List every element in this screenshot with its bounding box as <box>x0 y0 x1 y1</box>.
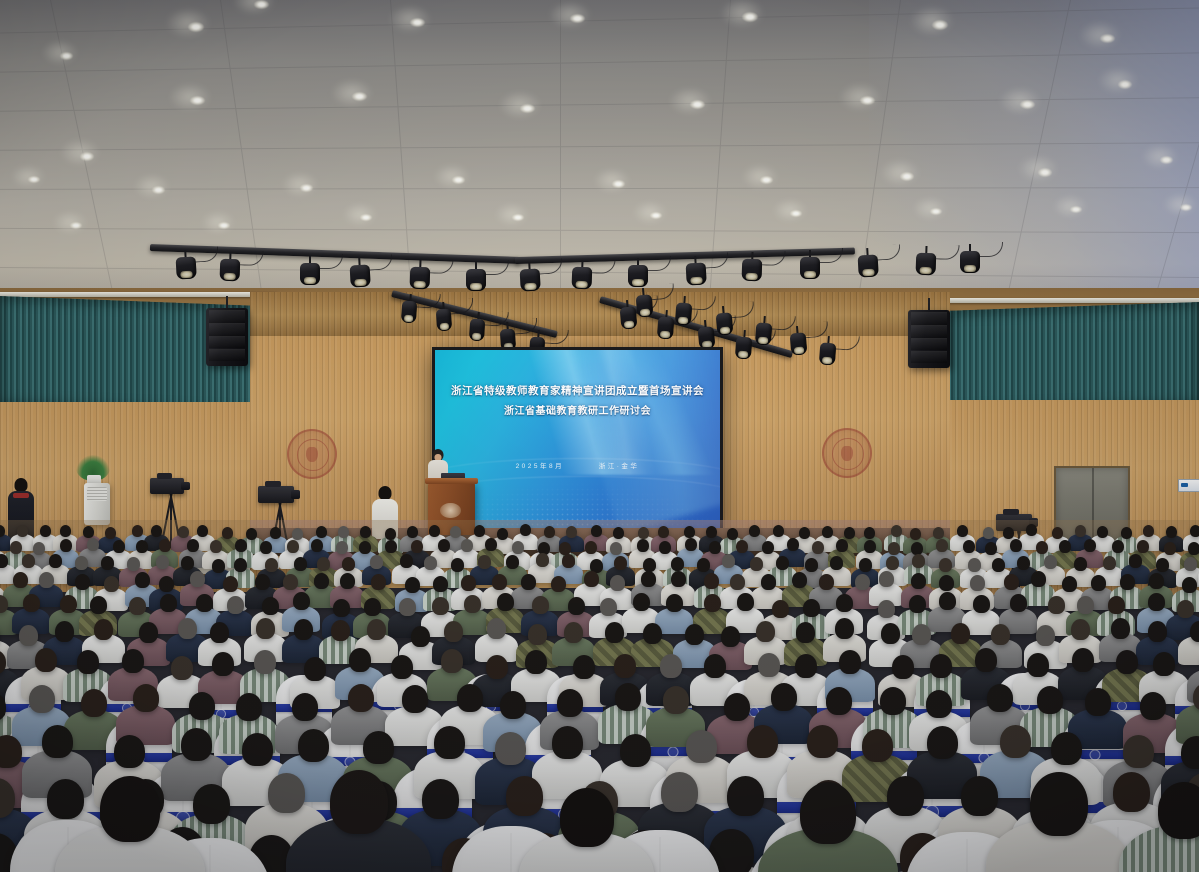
audience-head <box>671 571 686 587</box>
audience-head <box>835 618 854 639</box>
downlight <box>790 210 802 217</box>
stage-light <box>741 252 762 283</box>
audience-head <box>1111 618 1130 639</box>
audience-head <box>287 540 299 553</box>
audience-head <box>862 729 893 762</box>
chair-sash-buckle <box>1117 701 1127 711</box>
audience-head <box>1037 686 1063 714</box>
audience-head <box>983 527 994 539</box>
audience-head <box>223 576 238 592</box>
audience-head <box>911 542 923 555</box>
audience-head <box>704 594 721 612</box>
audience-head <box>812 541 824 554</box>
audience-head <box>363 731 394 764</box>
audience-head <box>47 779 84 819</box>
downlight <box>218 222 230 229</box>
downlight <box>1180 204 1192 211</box>
audience-head <box>772 600 789 618</box>
audience-head <box>399 598 416 616</box>
audience-head <box>520 524 531 536</box>
audience-head <box>485 538 497 551</box>
downlight <box>760 176 773 184</box>
downlight <box>690 100 705 109</box>
audience-head <box>1085 688 1111 716</box>
audience-head <box>422 779 459 819</box>
audience-head <box>637 539 649 552</box>
audience-head <box>330 770 388 834</box>
audience-head <box>1097 526 1108 538</box>
audience-head <box>643 558 656 572</box>
audience-head <box>559 542 571 555</box>
audience-head <box>1184 557 1197 571</box>
ac-unit-grille <box>87 487 107 501</box>
audience-head <box>1143 525 1154 537</box>
downlight <box>570 14 585 23</box>
audience-head <box>227 596 244 614</box>
audience-head <box>129 597 146 615</box>
audience-head <box>127 557 140 571</box>
audience-head <box>836 594 853 612</box>
stage-light <box>619 299 637 324</box>
audience-head <box>486 655 508 679</box>
audience-head <box>968 558 981 572</box>
audience-head <box>939 592 956 610</box>
audience-head <box>584 571 599 587</box>
line-array-speaker-left <box>206 308 248 366</box>
audience-head <box>970 575 985 591</box>
audience-head <box>268 773 305 813</box>
audience-head <box>497 528 508 540</box>
downlight <box>612 180 625 188</box>
audience-head <box>987 684 1013 712</box>
audience-head <box>807 725 838 758</box>
stage-light <box>657 309 675 334</box>
audience-head <box>197 525 208 537</box>
audience-head <box>633 593 650 611</box>
audience-head <box>262 597 279 615</box>
stage-light <box>571 260 592 291</box>
audience-head <box>909 595 926 613</box>
audience-head <box>1052 527 1063 539</box>
portable-ac-unit <box>84 483 110 525</box>
audience-head <box>641 571 656 587</box>
podium-top-surface <box>425 478 479 484</box>
audience-head <box>104 576 119 592</box>
audience-head <box>196 594 213 612</box>
audience-head <box>1017 556 1030 570</box>
chair-cover-seam <box>210 845 211 872</box>
audience-head <box>887 776 924 816</box>
audience-head <box>283 574 298 590</box>
audience-head <box>114 735 145 768</box>
audience-head <box>391 655 413 679</box>
audience-head <box>939 575 954 591</box>
line-array-speaker-right <box>908 310 950 368</box>
audience-head <box>1091 575 1106 591</box>
downlight <box>360 214 372 221</box>
stage-light <box>800 250 820 280</box>
audience-head <box>826 687 852 715</box>
audience-head <box>178 618 197 639</box>
chair-sash-buckle <box>668 746 679 757</box>
audience-head <box>620 734 651 767</box>
audience-head <box>525 650 547 674</box>
audience-head <box>371 574 386 590</box>
audience-head <box>560 788 614 847</box>
audience-head <box>42 725 73 758</box>
audience-head <box>756 621 775 642</box>
audience-head <box>591 525 602 537</box>
audience-head <box>1000 725 1031 758</box>
downlight <box>1160 156 1173 164</box>
chair-sash-buckle <box>1090 749 1101 760</box>
stage-light <box>435 302 452 326</box>
audience-head <box>441 649 463 673</box>
audience-head <box>796 622 815 643</box>
audience-head <box>60 595 77 613</box>
audience-head <box>933 527 944 539</box>
audience-head <box>721 626 740 647</box>
audience-head <box>973 595 990 613</box>
audience-head <box>451 558 464 572</box>
audience-head <box>60 539 72 552</box>
audience-area <box>0 520 1199 872</box>
downlight <box>1118 80 1132 89</box>
audience-head <box>836 539 848 552</box>
audience-head <box>0 554 8 568</box>
audience-head <box>573 655 595 679</box>
audience-head <box>1148 621 1167 642</box>
audience-head <box>407 526 418 538</box>
audience-head <box>13 572 28 588</box>
audience-head <box>532 596 549 614</box>
audience-head <box>724 693 750 721</box>
audience-head <box>348 684 374 712</box>
audience-head <box>270 527 281 539</box>
audience-head <box>1103 556 1116 570</box>
audience-head <box>171 656 193 680</box>
door-sign-icon <box>1181 483 1188 487</box>
audience-head <box>159 539 171 552</box>
audience-head <box>638 527 649 539</box>
audience-head <box>1129 554 1142 568</box>
stage-light <box>466 262 486 292</box>
audience-head <box>1004 574 1019 590</box>
audience-head <box>799 527 810 539</box>
audience-head <box>512 541 524 554</box>
downlight <box>1020 100 1035 109</box>
audience-head <box>1190 525 1199 537</box>
audience-head <box>75 574 90 590</box>
audience-head <box>771 683 797 711</box>
stage-light <box>685 255 707 286</box>
audience-head <box>803 599 820 617</box>
audience-head <box>359 541 371 554</box>
audience-head <box>432 597 449 615</box>
audience-head <box>178 526 189 538</box>
audience-head <box>562 554 575 568</box>
audience-head <box>939 558 952 572</box>
downlight <box>742 12 758 22</box>
audience-head <box>236 693 262 721</box>
audience-head <box>991 624 1010 645</box>
camcorder-left <box>150 478 184 494</box>
audience-head <box>557 689 583 717</box>
audience-head <box>49 554 62 568</box>
audience-head <box>761 574 776 590</box>
audience-head <box>730 574 745 590</box>
audience-head <box>314 573 329 589</box>
audience-head <box>1051 732 1082 765</box>
staff-scarf <box>13 493 29 498</box>
stage-light <box>789 325 807 350</box>
audience-head <box>1030 772 1088 836</box>
audience-head <box>402 685 428 713</box>
led-screen: 浙江省特级教师教育家精神宣讲团成立暨首场宣讲会 浙江省基础教育教研工作研讨会 2… <box>432 347 723 532</box>
audience-head <box>429 525 440 537</box>
podium-emblem <box>440 503 461 519</box>
audience-head <box>450 526 461 538</box>
audience-head <box>94 619 113 640</box>
stage-light <box>675 295 693 320</box>
audience-head <box>704 654 726 678</box>
stage-light <box>300 256 320 286</box>
audience-head <box>1027 653 1049 677</box>
audience-head <box>1140 692 1166 720</box>
audience-head <box>1177 600 1194 618</box>
audience-head <box>122 649 144 673</box>
audience-head <box>521 574 536 590</box>
audience-head <box>331 620 350 641</box>
audience-head <box>685 538 697 551</box>
audience-head <box>881 623 900 644</box>
stage-light <box>735 329 753 354</box>
audience-head <box>1182 577 1197 593</box>
audience-head <box>985 542 997 555</box>
audience-head <box>311 539 323 552</box>
audience-head <box>246 528 257 540</box>
downlight <box>352 92 367 101</box>
audience-head <box>23 594 40 612</box>
audience-head <box>1164 542 1176 555</box>
audience-head <box>133 684 159 712</box>
audience-head <box>750 557 763 571</box>
audience-head <box>500 691 526 719</box>
audience-head <box>105 527 116 539</box>
audience-head <box>212 652 234 676</box>
audience-head <box>614 556 627 570</box>
audience-head <box>400 554 413 568</box>
audience-head <box>886 556 899 570</box>
downlight <box>1070 206 1082 213</box>
audience-head <box>35 648 57 672</box>
audience-head <box>256 618 275 639</box>
audience-head <box>839 650 861 674</box>
downlight <box>28 176 40 183</box>
chair-cover-seam <box>967 839 968 872</box>
stage-light <box>219 252 240 283</box>
audience-head <box>957 525 968 537</box>
led-screen-content: 浙江省特级教师教育家精神宣讲团成立暨首场宣讲会 浙江省基础教育教研工作研讨会 2… <box>435 350 720 529</box>
audience-head <box>643 623 662 644</box>
audience-head <box>912 624 931 645</box>
audience-head <box>255 574 270 590</box>
downlight <box>452 176 465 184</box>
audience-head <box>758 653 780 677</box>
audience-head <box>181 728 212 761</box>
audience-head <box>704 573 719 589</box>
audience-head <box>364 598 381 616</box>
audience-head <box>136 540 148 553</box>
audience-head <box>55 621 74 642</box>
audience-head <box>888 542 900 555</box>
audience-head <box>936 539 948 552</box>
audience-head <box>819 574 834 590</box>
audience-head <box>265 558 278 572</box>
audience-head <box>292 693 318 721</box>
audience-head <box>242 733 273 766</box>
downlight <box>60 52 73 60</box>
audience-head <box>800 782 856 844</box>
audience-head <box>151 525 162 537</box>
audience-head <box>316 526 327 538</box>
downlight <box>1100 34 1115 43</box>
audience-head <box>1116 650 1138 674</box>
audience-head <box>1071 619 1090 640</box>
audience-head <box>497 593 514 611</box>
curtain-rail-left <box>0 292 276 297</box>
audience-head <box>22 554 35 568</box>
audience-head <box>40 525 51 537</box>
audience-head <box>910 528 921 540</box>
stage-light <box>401 294 418 318</box>
stage-light <box>349 257 371 288</box>
downlight <box>190 96 205 105</box>
audience-head <box>1010 594 1027 612</box>
stage-light <box>175 249 197 280</box>
audience-head <box>1003 527 1014 539</box>
audience-head <box>736 540 748 553</box>
audience-head <box>1158 782 1199 839</box>
audience-head <box>963 540 975 553</box>
audience-head <box>864 540 876 553</box>
led-location-text: 浙江·金华 <box>599 463 640 470</box>
stage-light <box>857 247 879 278</box>
audience-head <box>614 654 636 678</box>
audience-head <box>212 559 225 573</box>
audience-head <box>336 541 348 554</box>
downlight <box>410 18 425 27</box>
led-meta-line: 2025年8月 浙江·金华 <box>435 460 720 470</box>
audience-head <box>686 730 717 763</box>
videographer-head <box>379 486 392 500</box>
audience-head <box>795 654 817 678</box>
led-title-line-1: 浙江省特级教师教育家精神宣讲团成立暨首场宣讲会 <box>435 383 720 398</box>
stage-light <box>469 312 486 336</box>
audience-head <box>405 577 420 593</box>
audience-head <box>1077 596 1094 614</box>
audience-head <box>181 556 194 570</box>
downlight <box>80 152 94 161</box>
audience-head <box>360 526 371 538</box>
audience-head <box>1148 593 1165 611</box>
audience-head <box>1123 735 1154 768</box>
stage-light <box>519 261 541 292</box>
stage-light <box>499 322 516 346</box>
audience-head <box>1072 648 1094 672</box>
audience-head <box>992 558 1005 572</box>
audience-head <box>132 525 143 537</box>
audience-head <box>544 526 555 538</box>
stage-light <box>635 287 653 312</box>
audience-head <box>187 539 199 552</box>
audience-head <box>333 599 350 617</box>
audience-head <box>930 654 952 678</box>
photo-canvas: 浙江省特级教师教育家精神宣讲团成立暨首场宣讲会 浙江省基础教育教研工作研讨会 2… <box>0 0 1199 872</box>
audience-head <box>292 528 303 540</box>
audience-head <box>492 574 507 590</box>
audience-head <box>87 538 99 551</box>
audience-head <box>727 528 738 540</box>
audience-head <box>294 619 313 640</box>
audience-head <box>762 541 774 554</box>
audience-head <box>787 538 799 551</box>
audience-head <box>75 556 88 570</box>
audience-head <box>17 525 28 537</box>
audience-head <box>464 595 481 613</box>
audience-head <box>1059 540 1071 553</box>
audience-head <box>864 527 875 539</box>
audience-head <box>912 554 925 568</box>
downlight <box>254 0 269 9</box>
audience-head <box>424 556 437 570</box>
audience-head <box>1010 539 1022 552</box>
audience-head <box>210 540 222 553</box>
audience-head <box>927 726 958 759</box>
audience-head <box>661 772 698 812</box>
audience-head <box>506 776 543 816</box>
audience-head <box>1084 539 1096 552</box>
audience-head <box>685 624 704 645</box>
audience-head <box>600 598 617 616</box>
audience-head <box>844 527 855 539</box>
audience-head <box>160 594 177 612</box>
audience-head <box>33 542 45 555</box>
downlight <box>932 20 948 30</box>
chair-cover-seam <box>660 837 661 872</box>
audience-head <box>1149 573 1164 589</box>
audience-head <box>39 572 54 588</box>
audience-head <box>663 686 689 714</box>
audience-head <box>370 555 383 569</box>
audience-head <box>159 576 174 592</box>
audience-head <box>317 557 330 571</box>
audience-head <box>709 541 721 554</box>
audience-head <box>294 557 307 571</box>
audience-head <box>822 526 833 538</box>
audience-head <box>298 729 329 762</box>
downlight <box>650 212 662 219</box>
audience-head <box>536 553 549 567</box>
audience-head <box>222 527 233 539</box>
audience-head <box>338 526 349 538</box>
downlight <box>930 208 942 215</box>
downlight <box>520 104 535 113</box>
audience-head <box>411 626 430 647</box>
downlight <box>860 96 875 105</box>
audience-head <box>737 593 754 611</box>
audience-head <box>855 574 870 590</box>
